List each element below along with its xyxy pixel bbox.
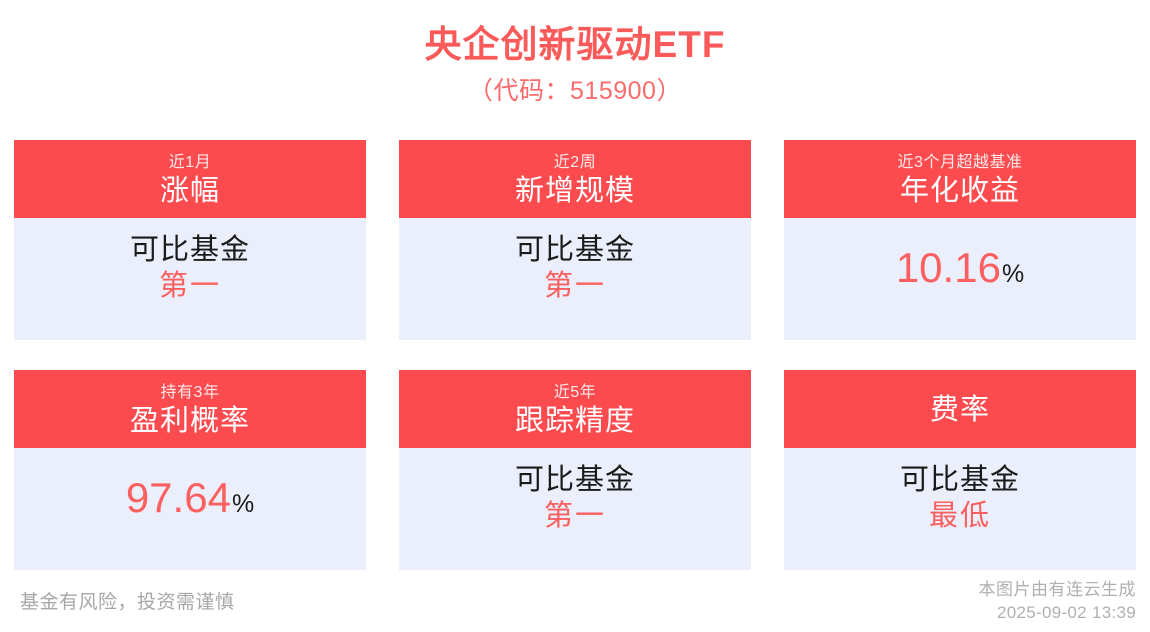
metric-card-grid: 近1月 涨幅 可比基金 第一 近2周 新增规模 可比基金 第一 近3个月超越基准 <box>14 140 1136 570</box>
card-body-highlight: 第一 <box>159 268 221 304</box>
card-body-unit: % <box>232 489 254 519</box>
card-body-label: 可比基金 <box>130 232 250 268</box>
footer: 基金有风险，投资需谨慎 本图片由有连云生成 2025-09-02 13:39 <box>0 570 1150 632</box>
footer-attribution: 本图片由有连云生成 2025-09-02 13:39 <box>979 578 1137 624</box>
card-header: 费率 <box>784 370 1136 448</box>
etf-infographic-page: 央企创新驱动ETF （代码：515900） 近1月 涨幅 可比基金 第一 近2周… <box>0 0 1150 632</box>
card-body: 97.64 % <box>14 448 366 570</box>
card-body-label: 可比基金 <box>515 462 635 498</box>
card-header-sublabel: 近5年 <box>554 382 596 403</box>
card-body: 可比基金 最低 <box>784 448 1136 570</box>
metric-card: 近5年 跟踪精度 可比基金 第一 <box>399 370 751 570</box>
card-body-unit: % <box>1002 259 1024 289</box>
card-body: 可比基金 第一 <box>14 218 366 340</box>
card-body-highlight: 第一 <box>544 268 606 304</box>
metric-card: 近1月 涨幅 可比基金 第一 <box>14 140 366 340</box>
card-header: 近1月 涨幅 <box>14 140 366 218</box>
card-header-sublabel: 近1月 <box>169 152 211 173</box>
card-body: 10.16 % <box>784 218 1136 340</box>
card-body-highlight: 第一 <box>544 498 606 534</box>
metric-card: 费率 可比基金 最低 <box>784 370 1136 570</box>
card-header: 近3个月超越基准 年化收益 <box>784 140 1136 218</box>
card-body-value: 97.64 % <box>126 474 254 522</box>
page-subtitle: （代码：515900） <box>0 74 1150 108</box>
metric-card: 持有3年 盈利概率 97.64 % <box>14 370 366 570</box>
card-body-value: 10.16 % <box>896 244 1024 292</box>
card-header-title: 盈利概率 <box>130 403 250 439</box>
card-body-label: 可比基金 <box>900 462 1020 498</box>
card-body: 可比基金 第一 <box>399 218 751 340</box>
metric-card: 近2周 新增规模 可比基金 第一 <box>399 140 751 340</box>
card-header: 持有3年 盈利概率 <box>14 370 366 448</box>
card-header-title: 费率 <box>930 392 990 428</box>
title-block: 央企创新驱动ETF （代码：515900） <box>0 22 1150 108</box>
card-body-label: 可比基金 <box>515 232 635 268</box>
card-header-title: 涨幅 <box>160 173 220 209</box>
card-header-sublabel: 近2周 <box>554 152 596 173</box>
card-header-sublabel: 持有3年 <box>161 382 220 403</box>
card-body: 可比基金 第一 <box>399 448 751 570</box>
card-header-title: 跟踪精度 <box>515 403 635 439</box>
card-body-number: 97.64 <box>126 474 231 522</box>
risk-disclaimer: 基金有风险，投资需谨慎 <box>20 587 235 614</box>
card-header-title: 新增规模 <box>515 173 635 209</box>
metric-card: 近3个月超越基准 年化收益 10.16 % <box>784 140 1136 340</box>
generator-credit: 本图片由有连云生成 <box>979 578 1137 601</box>
page-title: 央企创新驱动ETF <box>0 22 1150 68</box>
card-body-number: 10.16 <box>896 244 1001 292</box>
card-header: 近2周 新增规模 <box>399 140 751 218</box>
generated-timestamp: 2025-09-02 13:39 <box>979 601 1137 624</box>
card-header-sublabel: 近3个月超越基准 <box>898 152 1023 173</box>
card-body-highlight: 最低 <box>929 498 991 534</box>
card-header: 近5年 跟踪精度 <box>399 370 751 448</box>
card-header-title: 年化收益 <box>900 173 1020 209</box>
